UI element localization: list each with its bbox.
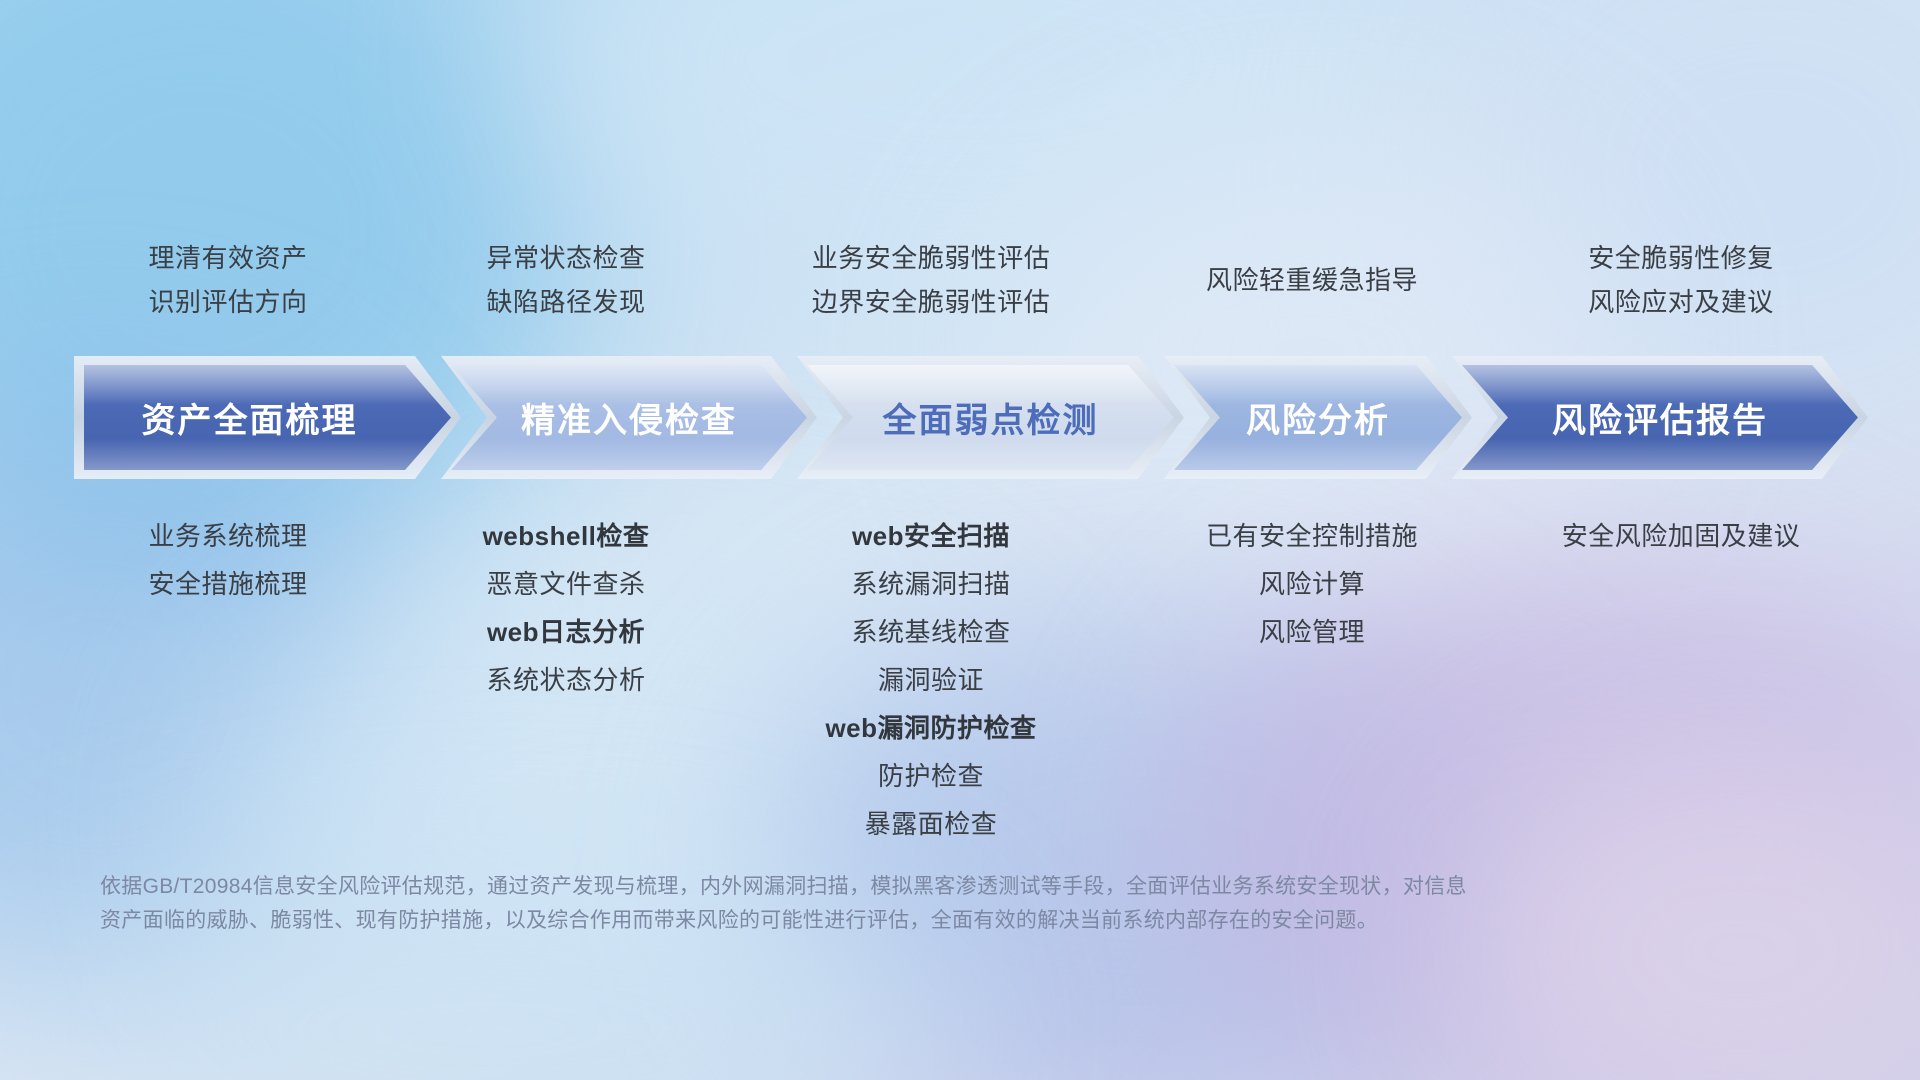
- footer-line: 资产面临的威胁、脆弱性、现有防护措施，以及综合作用而带来风险的可能性进行评估，全…: [100, 904, 1720, 938]
- top-item: 安全脆弱性修复: [1471, 236, 1891, 280]
- stage-label: 风险分析: [1246, 393, 1390, 442]
- bottom-item: 系统基线检查: [721, 608, 1141, 656]
- process-stage-banner: 资产全面梳理 精准入侵检查 全面弱点检测 风险分析 风险评估报告: [84, 365, 1858, 470]
- bottom-item: 漏洞验证: [721, 656, 1141, 704]
- bottom-item: web安全扫描: [721, 512, 1141, 560]
- stage-label: 资产全面梳理: [142, 393, 358, 442]
- bottom-item: webshell检查: [356, 512, 776, 560]
- stage-chevron-intrusion-check[interactable]: 精准入侵检查: [451, 365, 807, 470]
- bottom-item: 暴露面检查: [721, 800, 1141, 848]
- bottom-item: web日志分析: [356, 608, 776, 656]
- stage-chevron-assessment-report[interactable]: 风险评估报告: [1462, 365, 1858, 470]
- bottom-list-risk-analysis: 已有安全控制措施 风险计算 风险管理: [1102, 512, 1522, 656]
- bottom-item: 防护检查: [721, 752, 1141, 800]
- bottom-item: 已有安全控制措施: [1102, 512, 1522, 560]
- top-item: 缺陷路径发现: [356, 280, 776, 324]
- top-item: 业务安全脆弱性评估: [721, 236, 1141, 280]
- bottom-list-intrusion-check: webshell检查 恶意文件查杀 web日志分析 系统状态分析: [356, 512, 776, 704]
- top-list-risk-analysis: 风险轻重缓急指导: [1102, 258, 1522, 302]
- top-item: 风险应对及建议: [1471, 280, 1891, 324]
- top-list-intrusion-check: 异常状态检查 缺陷路径发现: [356, 236, 776, 324]
- stage-label: 精准入侵检查: [521, 393, 737, 442]
- top-item: 边界安全脆弱性评估: [721, 280, 1141, 324]
- footer-line: 依据GB/T20984信息安全风险评估规范，通过资产发现与梳理，内外网漏洞扫描，…: [100, 870, 1720, 904]
- bottom-item: 风险管理: [1102, 608, 1522, 656]
- stage-chevron-asset-inventory[interactable]: 资产全面梳理: [84, 365, 451, 470]
- bottom-list-weakness-detection: web安全扫描 系统漏洞扫描 系统基线检查 漏洞验证 web漏洞防护检查 防护检…: [721, 512, 1141, 848]
- stage-label: 风险评估报告: [1552, 393, 1768, 442]
- top-list-weakness-detection: 业务安全脆弱性评估 边界安全脆弱性评估: [721, 236, 1141, 324]
- top-list-assessment-report: 安全脆弱性修复 风险应对及建议: [1471, 236, 1891, 324]
- bottom-item: web漏洞防护检查: [721, 704, 1141, 752]
- bottom-item: 系统状态分析: [356, 656, 776, 704]
- bottom-item: 风险计算: [1102, 560, 1522, 608]
- process-flow-diagram: 理清有效资产 识别评估方向 业务系统梳理 安全措施梳理 异常状态检查 缺陷路径发…: [0, 0, 1920, 1080]
- bottom-item: 系统漏洞扫描: [721, 560, 1141, 608]
- top-item: 风险轻重缓急指导: [1102, 258, 1522, 302]
- bottom-item: 安全风险加固及建议: [1471, 512, 1891, 560]
- stage-label: 全面弱点检测: [883, 393, 1099, 442]
- bottom-list-assessment-report: 安全风险加固及建议: [1471, 512, 1891, 560]
- top-item: 异常状态检查: [356, 236, 776, 280]
- footer-description: 依据GB/T20984信息安全风险评估规范，通过资产发现与梳理，内外网漏洞扫描，…: [100, 870, 1720, 938]
- bottom-item: 恶意文件查杀: [356, 560, 776, 608]
- stage-chevron-weakness-detection[interactable]: 全面弱点检测: [807, 365, 1174, 470]
